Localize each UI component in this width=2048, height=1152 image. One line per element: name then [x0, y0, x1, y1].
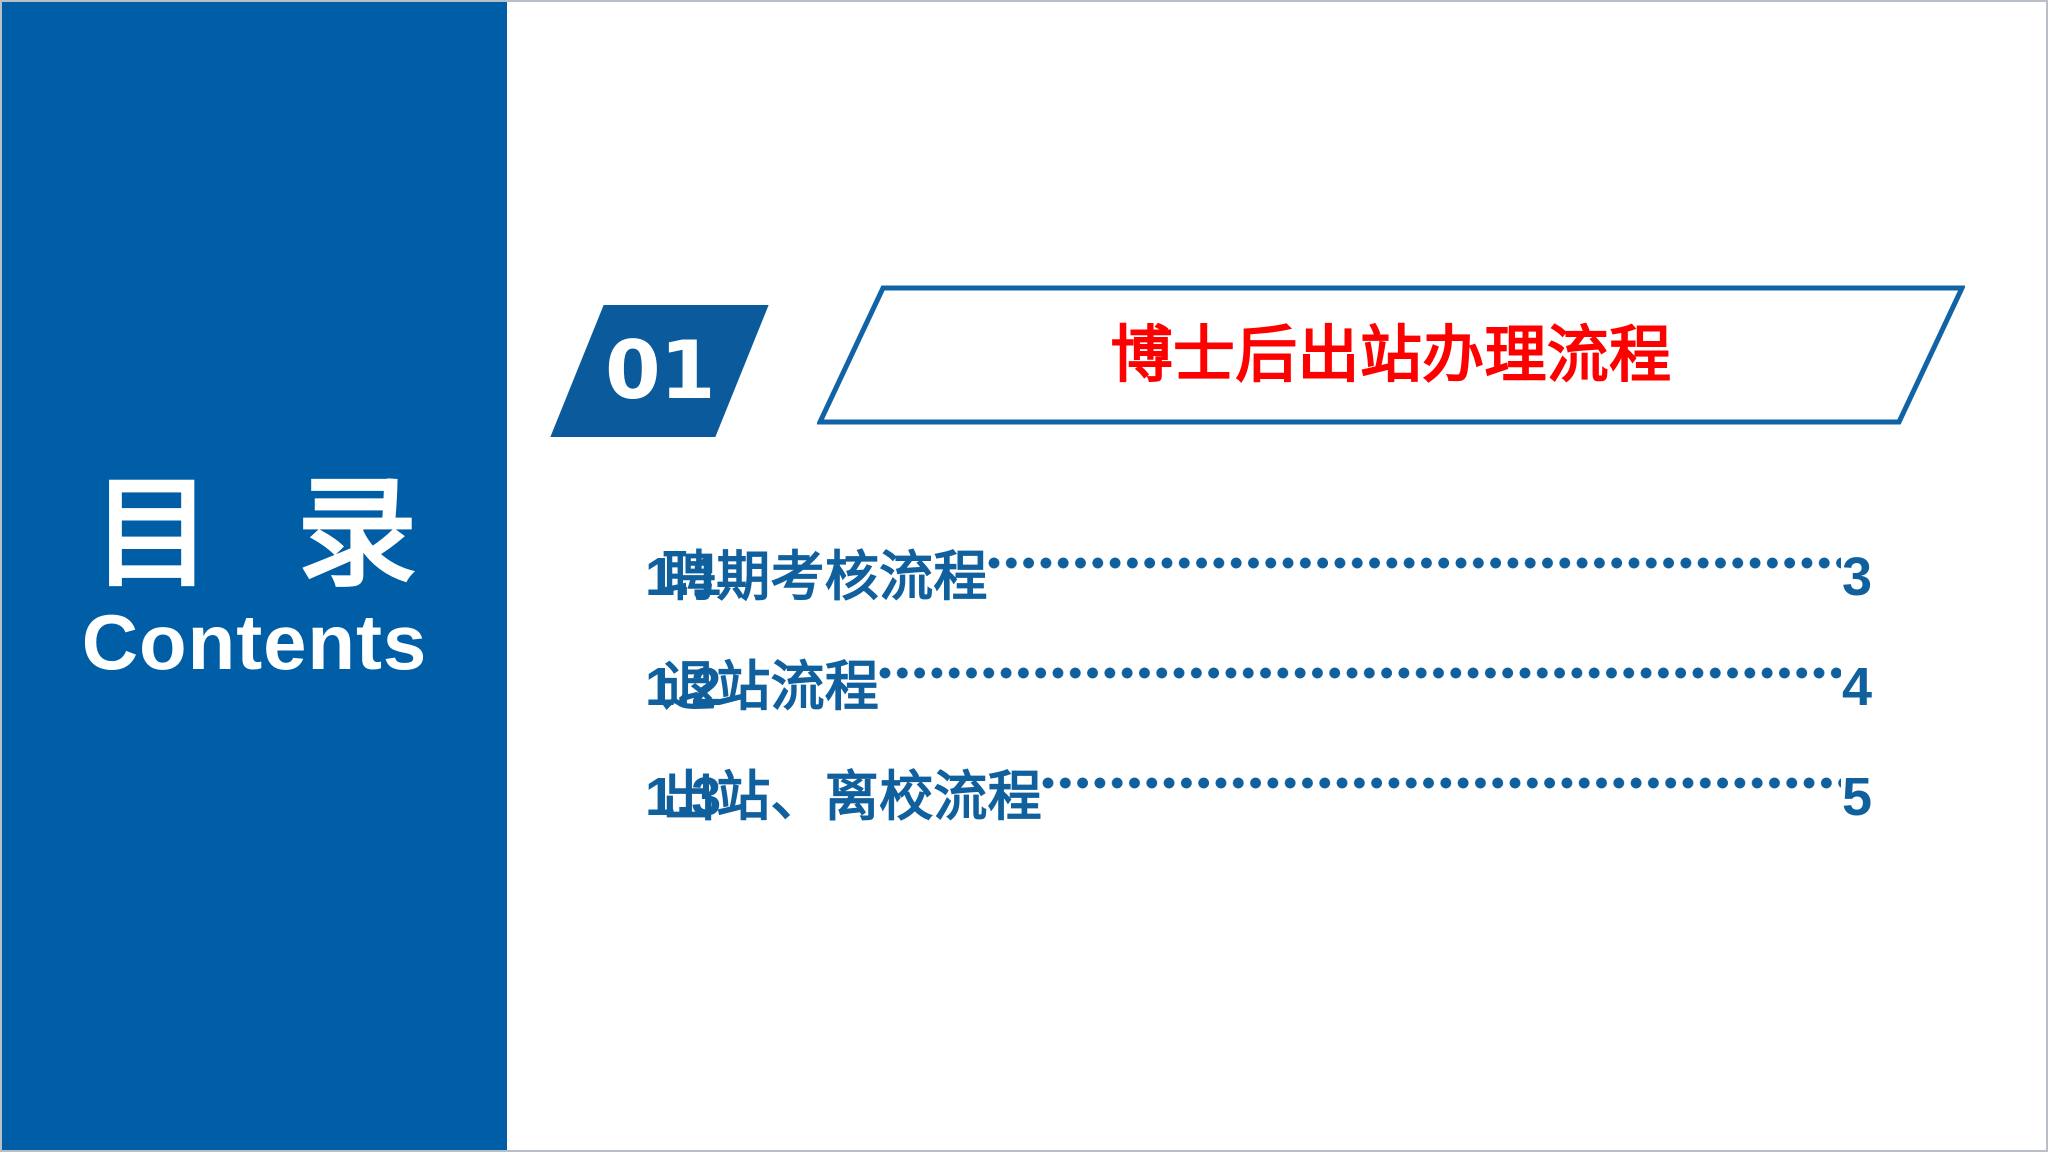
- toc-entry-number: 1.3: [507, 742, 662, 852]
- toc-dot-leader: [1042, 705, 1841, 815]
- section-header: 01 博士后出站办理流程: [577, 285, 1977, 440]
- section-title: 博士后出站办理流程: [817, 285, 1965, 425]
- section-number-badge: 01: [550, 305, 768, 437]
- content-area: 01 博士后出站办理流程 1.1 聘期考核流程 3 1.2 退站流程: [507, 2, 2046, 1150]
- toc-entry-label: 出站、离校流程: [662, 742, 1042, 852]
- toc-entry-page: 3: [1841, 522, 1872, 632]
- section-title-text: 博士后出站办理流程: [1111, 324, 1672, 386]
- sidebar-panel-inner: 目 录 Contents: [2, 2, 507, 1152]
- toc-entry-page: 5: [1841, 742, 1872, 852]
- toc-entry-label: 退站流程: [662, 632, 879, 742]
- toc-entry-number: 1.1: [507, 522, 662, 632]
- slide-canvas: 目 录 Contents 01 博士后出站办理流程 1.1 聘期考核流程: [0, 0, 2048, 1152]
- sidebar-title-chinese: 目 录: [92, 472, 439, 598]
- toc-dot-leader: [879, 595, 1841, 705]
- sidebar-panel: 目 录 Contents: [2, 2, 507, 1152]
- toc-list: 1.1 聘期考核流程 3 1.2 退站流程 4 1.3 出站、离校流程 5: [507, 485, 1872, 815]
- toc-entry-number: 1.2: [507, 632, 662, 742]
- toc-entry-page: 4: [1841, 632, 1872, 742]
- toc-entry-1[interactable]: 1.1 聘期考核流程 3: [507, 485, 1872, 595]
- toc-dot-leader: [988, 485, 1841, 595]
- section-number-label: 01: [605, 331, 715, 411]
- sidebar-title-english: Contents: [82, 602, 427, 684]
